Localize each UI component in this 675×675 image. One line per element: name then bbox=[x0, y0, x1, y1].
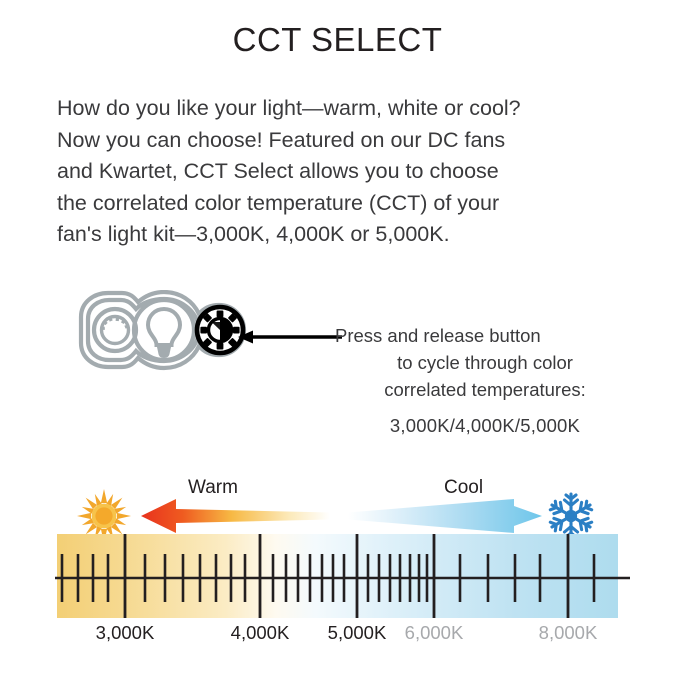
scale-tick-label-8000: 8,000K bbox=[539, 622, 598, 644]
direction-band: Warm Cool bbox=[0, 472, 675, 534]
warm-label: Warm bbox=[188, 477, 238, 499]
scale-tick-label-6000: 6,000K bbox=[405, 622, 464, 644]
cct-select-button-icon bbox=[197, 307, 243, 353]
callout-line-1: Press and release button bbox=[335, 322, 635, 349]
intro-line-2: Now you can choose! Featured on our DC f… bbox=[57, 125, 619, 157]
page-title: CCT SELECT bbox=[0, 20, 675, 60]
intro-line-4: the correlated color temperature (CCT) o… bbox=[57, 188, 619, 220]
scale-tick-label-3000: 3,000K bbox=[96, 622, 155, 644]
intro-line-3: and Kwartet, CCT Select allows you to ch… bbox=[57, 156, 619, 188]
intro-paragraph: How do you like your light—warm, white o… bbox=[57, 93, 619, 251]
scale-tick-labels: 3,000K4,000K5,000K6,000K8,000K bbox=[0, 622, 675, 648]
warm-arrow bbox=[141, 499, 330, 533]
scale-tick-label-5000: 5,000K bbox=[328, 622, 387, 644]
cool-label: Cool bbox=[444, 477, 483, 499]
callout-text: Press and release button to cycle throug… bbox=[335, 322, 635, 439]
callout-leader-line bbox=[238, 326, 342, 348]
callout-temperatures: 3,000K/4,000K/5,000K bbox=[335, 412, 635, 439]
callout-line-3: correlated temperatures: bbox=[335, 376, 635, 403]
callout-line-2: to cycle through color bbox=[335, 349, 635, 376]
intro-line-5: fan's light kit—3,000K, 4,000K or 5,000K… bbox=[57, 219, 619, 251]
cool-arrow bbox=[348, 499, 542, 533]
scale-gradient-bar bbox=[57, 534, 618, 618]
remote-illustration bbox=[52, 290, 267, 390]
sun-icon bbox=[67, 479, 141, 534]
temperature-scale: 3,000K4,000K5,000K6,000K8,000K bbox=[0, 532, 675, 652]
intro-line-1: How do you like your light—warm, white o… bbox=[57, 93, 619, 125]
fan-speed-dial-icon bbox=[94, 309, 136, 351]
light-bulb-icon bbox=[134, 300, 194, 360]
snowflake-icon bbox=[549, 494, 594, 534]
scale-tick-label-4000: 4,000K bbox=[231, 622, 290, 644]
